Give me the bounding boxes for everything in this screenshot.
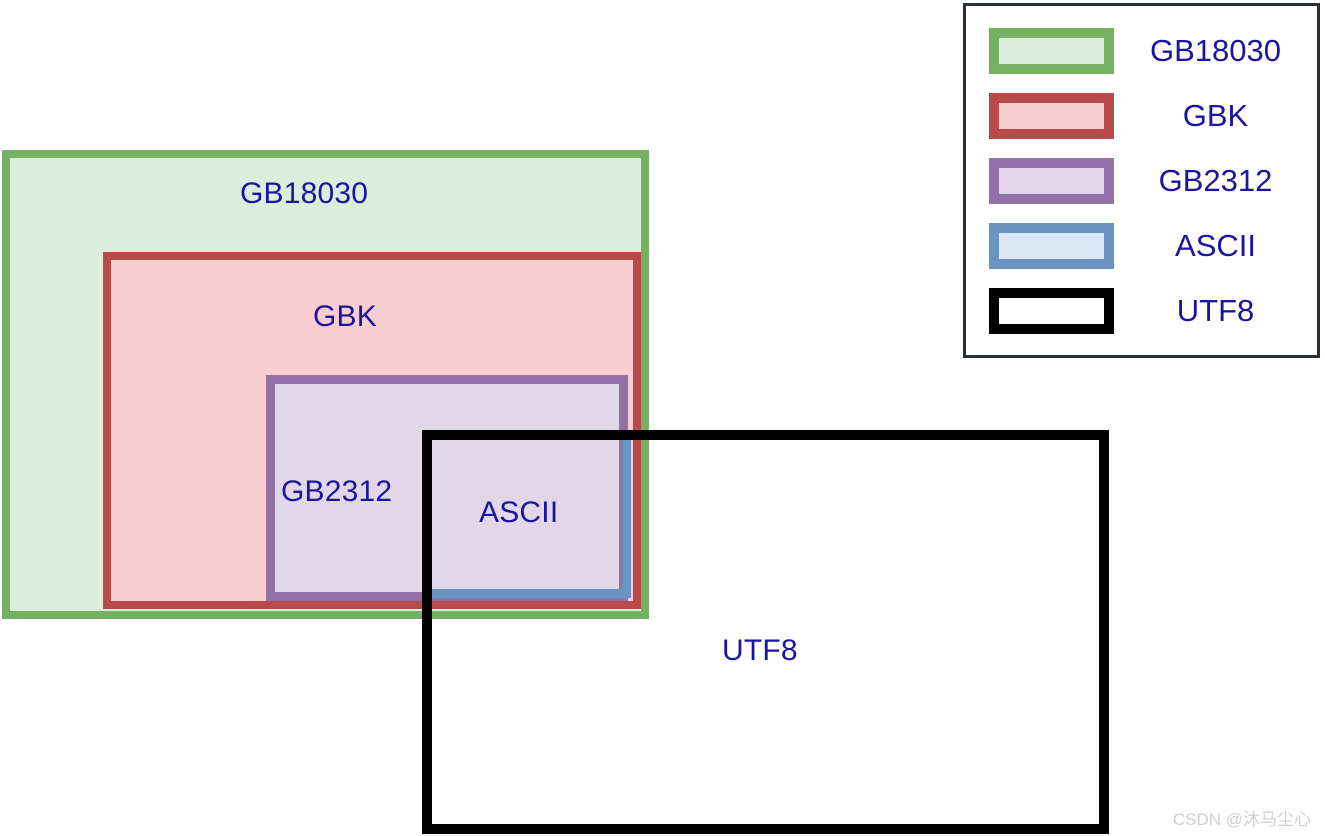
legend-label-gb18030: GB18030	[1114, 35, 1317, 66]
legend-item-gb18030: GB18030	[966, 18, 1317, 83]
legend-panel: GB18030 GBK GB2312 ASCII UTF8	[963, 3, 1320, 358]
watermark-text: CSDN @沐马尘心	[1173, 811, 1311, 828]
set-label-gb18030: GB18030	[240, 179, 368, 209]
diagram-canvas: GB18030 GBK GB2312 ASCII UTF8 GB18030 GB…	[0, 0, 1325, 836]
legend-label-gbk: GBK	[1114, 100, 1317, 131]
legend-item-gbk: GBK	[966, 83, 1317, 148]
legend-item-utf8: UTF8	[966, 278, 1317, 343]
set-label-gb2312: GB2312	[281, 477, 392, 507]
set-label-gbk: GBK	[313, 302, 377, 332]
legend-label-utf8: UTF8	[1114, 295, 1317, 326]
legend-item-gb2312: GB2312	[966, 148, 1317, 213]
legend-swatch-ascii	[989, 223, 1114, 269]
legend-swatch-gbk	[989, 93, 1114, 139]
set-label-ascii: ASCII	[479, 498, 558, 528]
legend-item-ascii: ASCII	[966, 213, 1317, 278]
legend-swatch-gb2312	[989, 158, 1114, 204]
set-label-utf8: UTF8	[722, 636, 798, 666]
legend-swatch-gb18030	[989, 28, 1114, 74]
legend-label-gb2312: GB2312	[1114, 165, 1317, 196]
legend-swatch-utf8	[989, 288, 1114, 334]
legend-label-ascii: ASCII	[1114, 230, 1317, 261]
set-rect-utf8	[422, 430, 1109, 834]
